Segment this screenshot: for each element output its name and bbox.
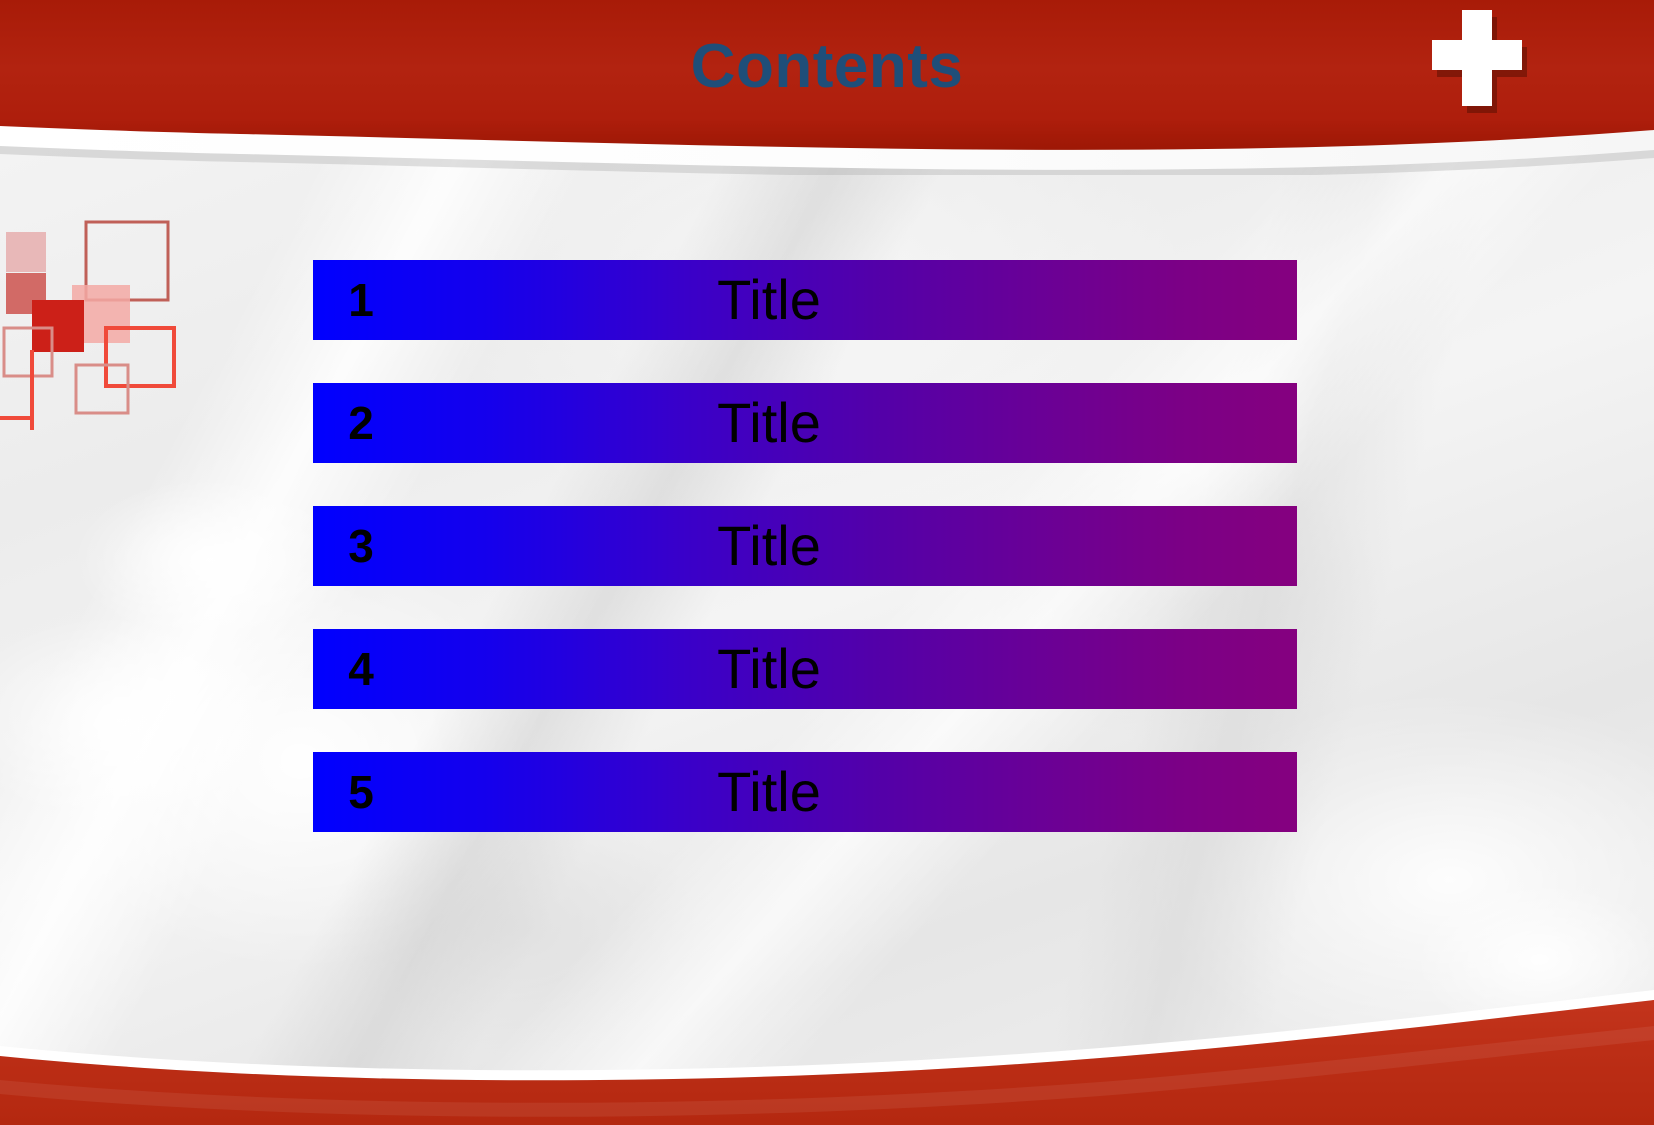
contents-item-5[interactable]: 5 Title <box>313 752 1297 832</box>
item-title: Title <box>409 395 1297 451</box>
red-squares-cluster <box>0 200 186 430</box>
item-number: 1 <box>313 277 409 323</box>
contents-item-1[interactable]: 1 Title <box>313 260 1297 340</box>
contents-list: 1 Title 2 Title 3 Title 4 Title 5 Title <box>313 260 1297 832</box>
contents-item-3[interactable]: 3 Title <box>313 506 1297 586</box>
item-title: Title <box>409 518 1297 574</box>
item-title: Title <box>409 272 1297 328</box>
item-number: 2 <box>313 400 409 446</box>
page-title: Contents <box>0 36 1654 98</box>
item-number: 4 <box>313 646 409 692</box>
medical-cross-icon <box>1424 4 1528 122</box>
item-title: Title <box>409 764 1297 820</box>
presentation-slide: Contents 1 Title <box>0 0 1654 1125</box>
contents-item-2[interactable]: 2 Title <box>313 383 1297 463</box>
item-number: 5 <box>313 769 409 815</box>
contents-item-4[interactable]: 4 Title <box>313 629 1297 709</box>
item-number: 3 <box>313 523 409 569</box>
item-title: Title <box>409 641 1297 697</box>
footer-band <box>0 940 1654 1125</box>
